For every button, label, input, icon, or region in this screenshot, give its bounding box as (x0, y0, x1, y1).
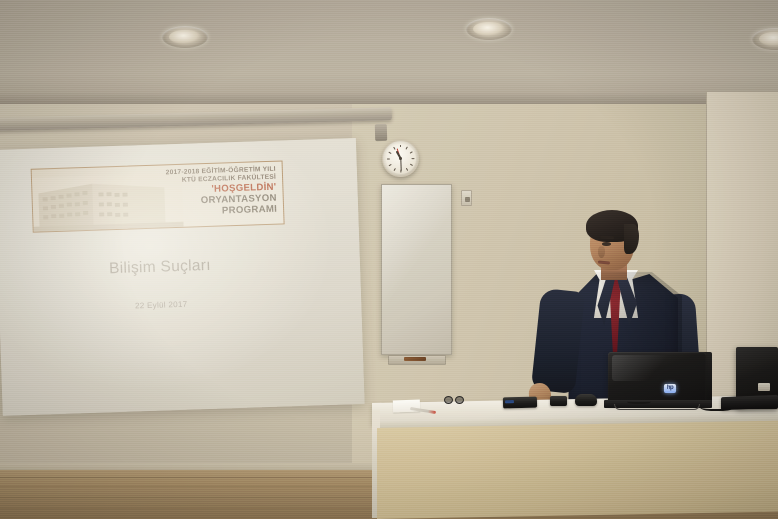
ceiling-downlight (162, 26, 208, 48)
wall-clock (382, 140, 419, 177)
presenter-remote[interactable] (503, 397, 537, 409)
lectern-desk-front-panel (377, 421, 778, 519)
whiteboard-sheen (382, 185, 451, 354)
whiteboard (381, 184, 452, 355)
clock-face (386, 144, 416, 174)
presenter-nose (598, 246, 605, 258)
clock-center-pin (399, 157, 402, 160)
wall-switch-plate[interactable] (461, 190, 472, 206)
slide-title: Bilişim Suçları (32, 254, 288, 280)
slide-date: 22 Eylül 2017 (33, 296, 289, 313)
computer-mouse[interactable] (575, 394, 597, 406)
monitor-badge (758, 383, 770, 391)
seminar-room-photo: 2017-2018 EĞİTİM-ÖĞRETİM YILI KTÜ ECZACI… (0, 0, 778, 519)
ceiling-downlight (466, 18, 512, 40)
ceiling (0, 0, 778, 106)
projection-screen-case-end (375, 124, 387, 141)
remote-control[interactable] (550, 396, 567, 406)
eyeglasses[interactable] (444, 396, 464, 404)
faculty-building-photo (32, 173, 184, 233)
laptop-lid-sheen (612, 355, 672, 381)
presenter-eye (602, 242, 611, 246)
slide-header-banner: 2017-2018 EĞİTİM-ÖĞRETİM YILI KTÜ ECZACI… (31, 160, 285, 232)
hp-logo-icon: hp (664, 384, 676, 393)
keyboard[interactable] (721, 395, 778, 410)
slide-banner-text: 2017-2018 EĞİTİM-ÖĞRETİM YILI KTÜ ECZACI… (166, 166, 278, 219)
projected-slide: 2017-2018 EĞİTİM-ÖĞRETİM YILI KTÜ ECZACI… (29, 159, 336, 391)
presenter-hair-side (624, 224, 639, 254)
clock-minute-hand (400, 158, 402, 171)
whiteboard-marker (404, 357, 426, 361)
projection-screen: 2017-2018 EĞİTİM-ÖĞRETİM YILI KTÜ ECZACI… (0, 138, 365, 416)
hp-laptop-hinge (614, 404, 700, 410)
cable (627, 398, 651, 404)
hp-laptop-lid[interactable]: hp (608, 352, 706, 404)
